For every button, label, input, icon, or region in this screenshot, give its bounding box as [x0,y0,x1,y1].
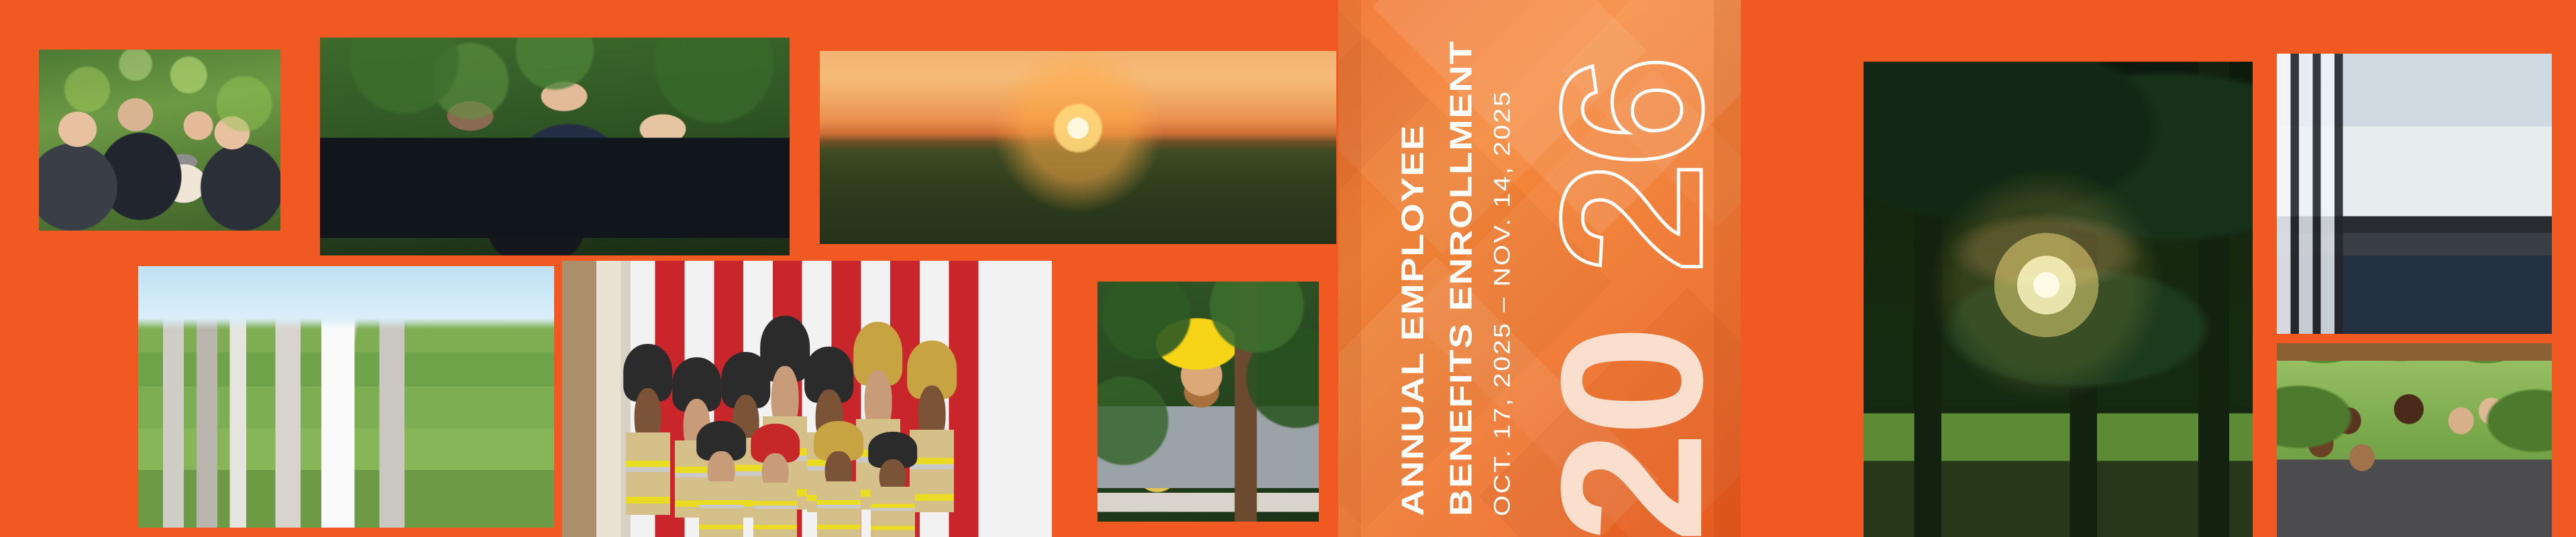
photo-sunset-skyline [820,51,1336,244]
year-outline-digits: 26 [1553,60,1710,274]
photo-lab-scientist [2277,54,2552,334]
photo-lineman-image [1097,282,1319,522]
photo-cascades-park [138,266,554,528]
photo-lineman [1097,282,1319,522]
firefighter-figure [699,421,743,537]
photo-firefighters-image [562,261,1052,537]
photo-cascades-park-image [138,266,554,528]
photo-police-officers [320,38,790,255]
panel-left-seam [1338,0,1361,537]
firefighter-figure [871,432,915,537]
firefighter-figure [753,424,798,537]
photo-sunset-skyline-image [820,51,1336,244]
photo-volunteer-group [2277,343,2552,537]
firefighter-figure [910,341,954,512]
photo-lab-scientist-image [2277,54,2552,334]
photo-live-oaks [1864,62,2253,537]
year-2026: 26 20 [1513,0,1741,537]
year-solid-digits: 20 [1553,330,1710,537]
photo-animal-control [39,50,280,231]
benefits-enrollment-banner: 26 20 ANNUAL EMPLOYEE BENEFITS ENROLLMEN… [0,0,2576,537]
enrollment-date-range: OCT. 17, 2025 – NOV. 14, 2025 [1491,90,1513,516]
photo-firefighters [562,261,1052,537]
photo-volunteer-group-image [2277,343,2552,537]
firefighter-figure [817,421,861,537]
photo-police-officers-image [320,38,790,255]
headline-line-2: BENEFITS ENROLLMENT [1446,40,1477,516]
headline-line-1: ANNUAL EMPLOYEE [1397,124,1428,516]
photo-live-oaks-image [1864,62,2253,537]
firefighter-figure [626,344,670,515]
photo-animal-control-image [39,50,280,231]
